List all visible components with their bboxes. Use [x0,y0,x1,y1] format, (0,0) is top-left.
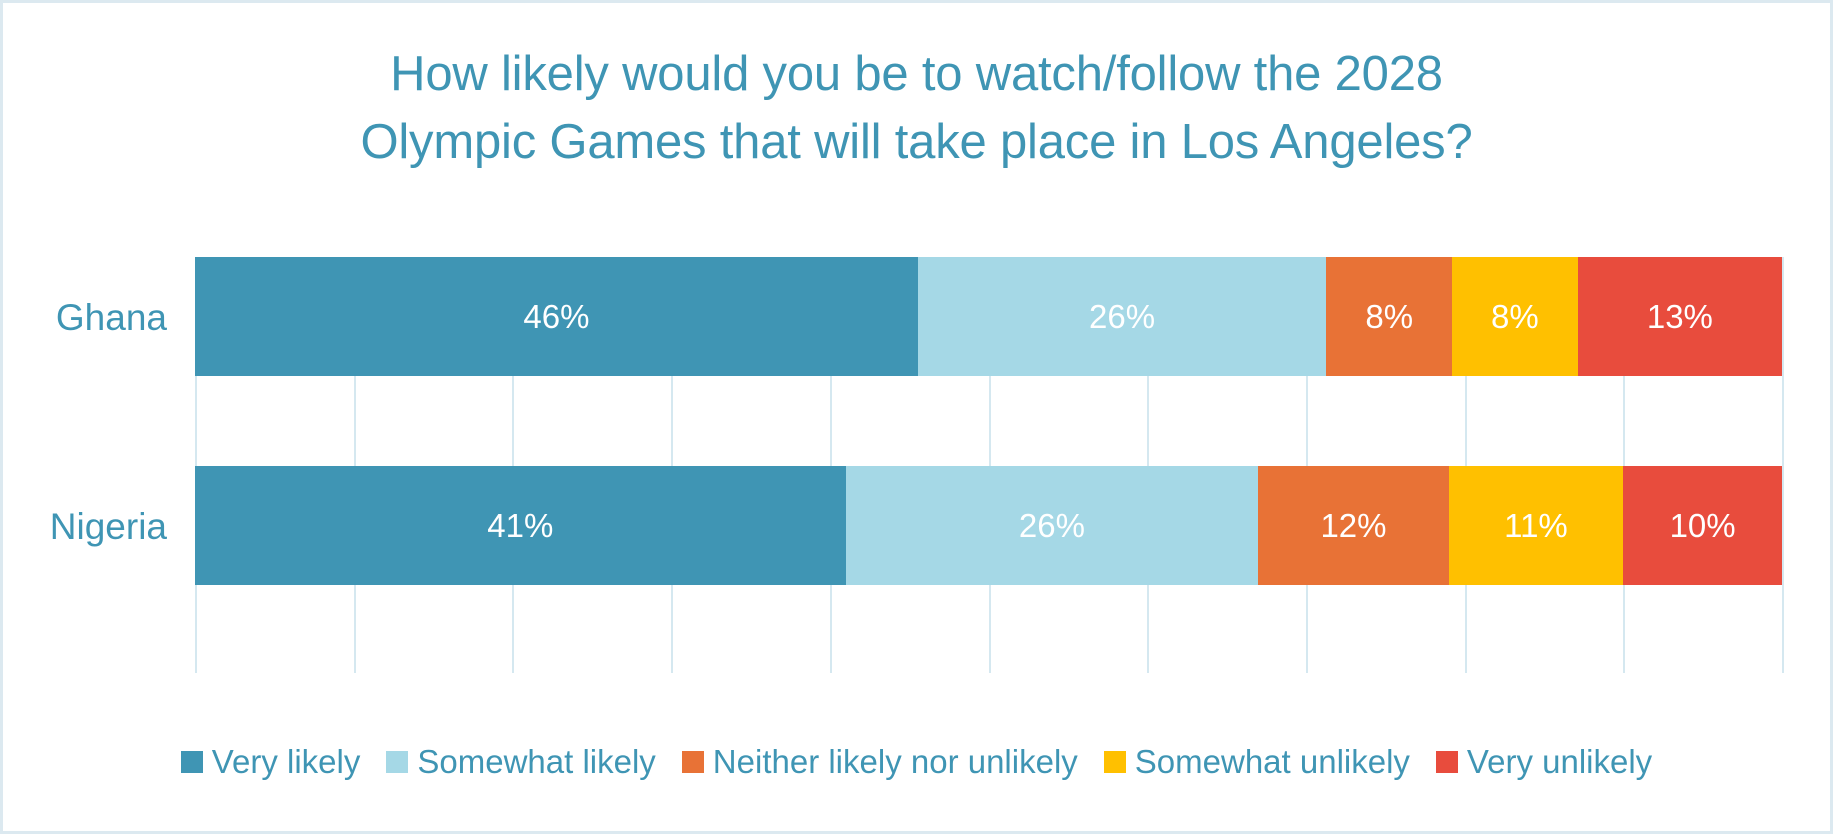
bar-row: 46%26%8%8%13% [195,257,1782,376]
bar-segment[interactable]: 11% [1449,466,1624,585]
legend-item[interactable]: Somewhat unlikely [1104,745,1410,778]
legend-label: Somewhat likely [417,745,655,778]
bar-segment[interactable]: 46% [195,257,918,376]
legend-swatch-icon [1104,751,1126,773]
legend-swatch-icon [1436,751,1458,773]
bar-row: 41%26%12%11%10% [195,466,1782,585]
bar-segment-label: 13% [1647,300,1713,333]
bar-segment-label: 8% [1491,300,1539,333]
plot-area: 46%26%8%8%13%41%26%12%11%10% [195,257,1782,673]
legend-label: Very unlikely [1467,745,1652,778]
bar-segment-label: 12% [1320,509,1386,542]
bar-segment[interactable]: 26% [918,257,1327,376]
legend-item[interactable]: Somewhat likely [386,745,655,778]
legend-label: Very likely [212,745,361,778]
bar-segment[interactable]: 8% [1452,257,1578,376]
gridline-100 [1782,257,1784,673]
chart-container: How likely would you be to watch/follow … [0,0,1833,834]
bar-segment-label: 26% [1089,300,1155,333]
bar-segment[interactable]: 41% [195,466,846,585]
bar-segment-label: 10% [1670,509,1736,542]
chart-title: How likely would you be to watch/follow … [3,41,1830,176]
legend-swatch-icon [682,751,704,773]
bar-segment-label: 46% [523,300,589,333]
legend-label: Somewhat unlikely [1135,745,1410,778]
bar-segment-label: 26% [1019,509,1085,542]
bar-segment[interactable]: 10% [1623,466,1782,585]
legend-swatch-icon [386,751,408,773]
bar-segment-label: 11% [1504,509,1568,542]
chart-legend: Very likelySomewhat likelyNeither likely… [3,745,1830,778]
bars-layer: 46%26%8%8%13%41%26%12%11%10% [195,257,1782,673]
legend-item[interactable]: Neither likely nor unlikely [682,745,1078,778]
bar-segment-label: 8% [1365,300,1413,333]
bar-segment[interactable]: 12% [1258,466,1448,585]
bar-segment-label: 41% [487,509,553,542]
legend-swatch-icon [181,751,203,773]
bar-segment[interactable]: 8% [1326,257,1452,376]
bar-segment[interactable]: 13% [1578,257,1782,376]
category-label-nigeria: Nigeria [0,508,167,545]
legend-item[interactable]: Very likely [181,745,361,778]
legend-item[interactable]: Very unlikely [1436,745,1652,778]
bar-segment[interactable]: 26% [846,466,1259,585]
legend-label: Neither likely nor unlikely [713,745,1078,778]
category-label-ghana: Ghana [0,299,167,336]
